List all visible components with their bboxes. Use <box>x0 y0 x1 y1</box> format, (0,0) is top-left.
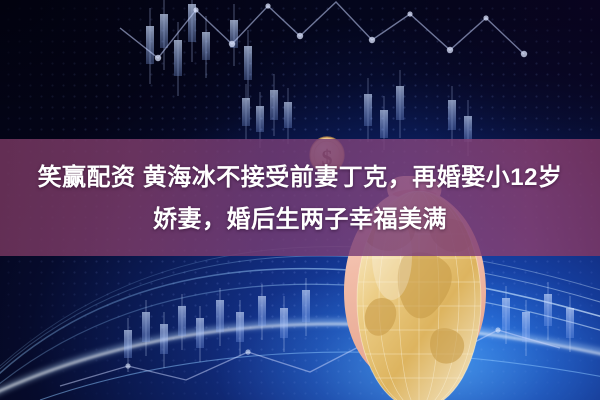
candlestick-chart-top <box>146 0 252 100</box>
cover-image: $ <box>0 0 600 400</box>
headline-line-1: 笑赢配资 黄海冰不接受前妻丁克，再婚娶小12岁 <box>0 158 600 198</box>
headline-line-2: 娇妻，婚后生两子幸福美满 <box>0 200 600 240</box>
zigzag-line-chart-bottom <box>60 327 560 386</box>
